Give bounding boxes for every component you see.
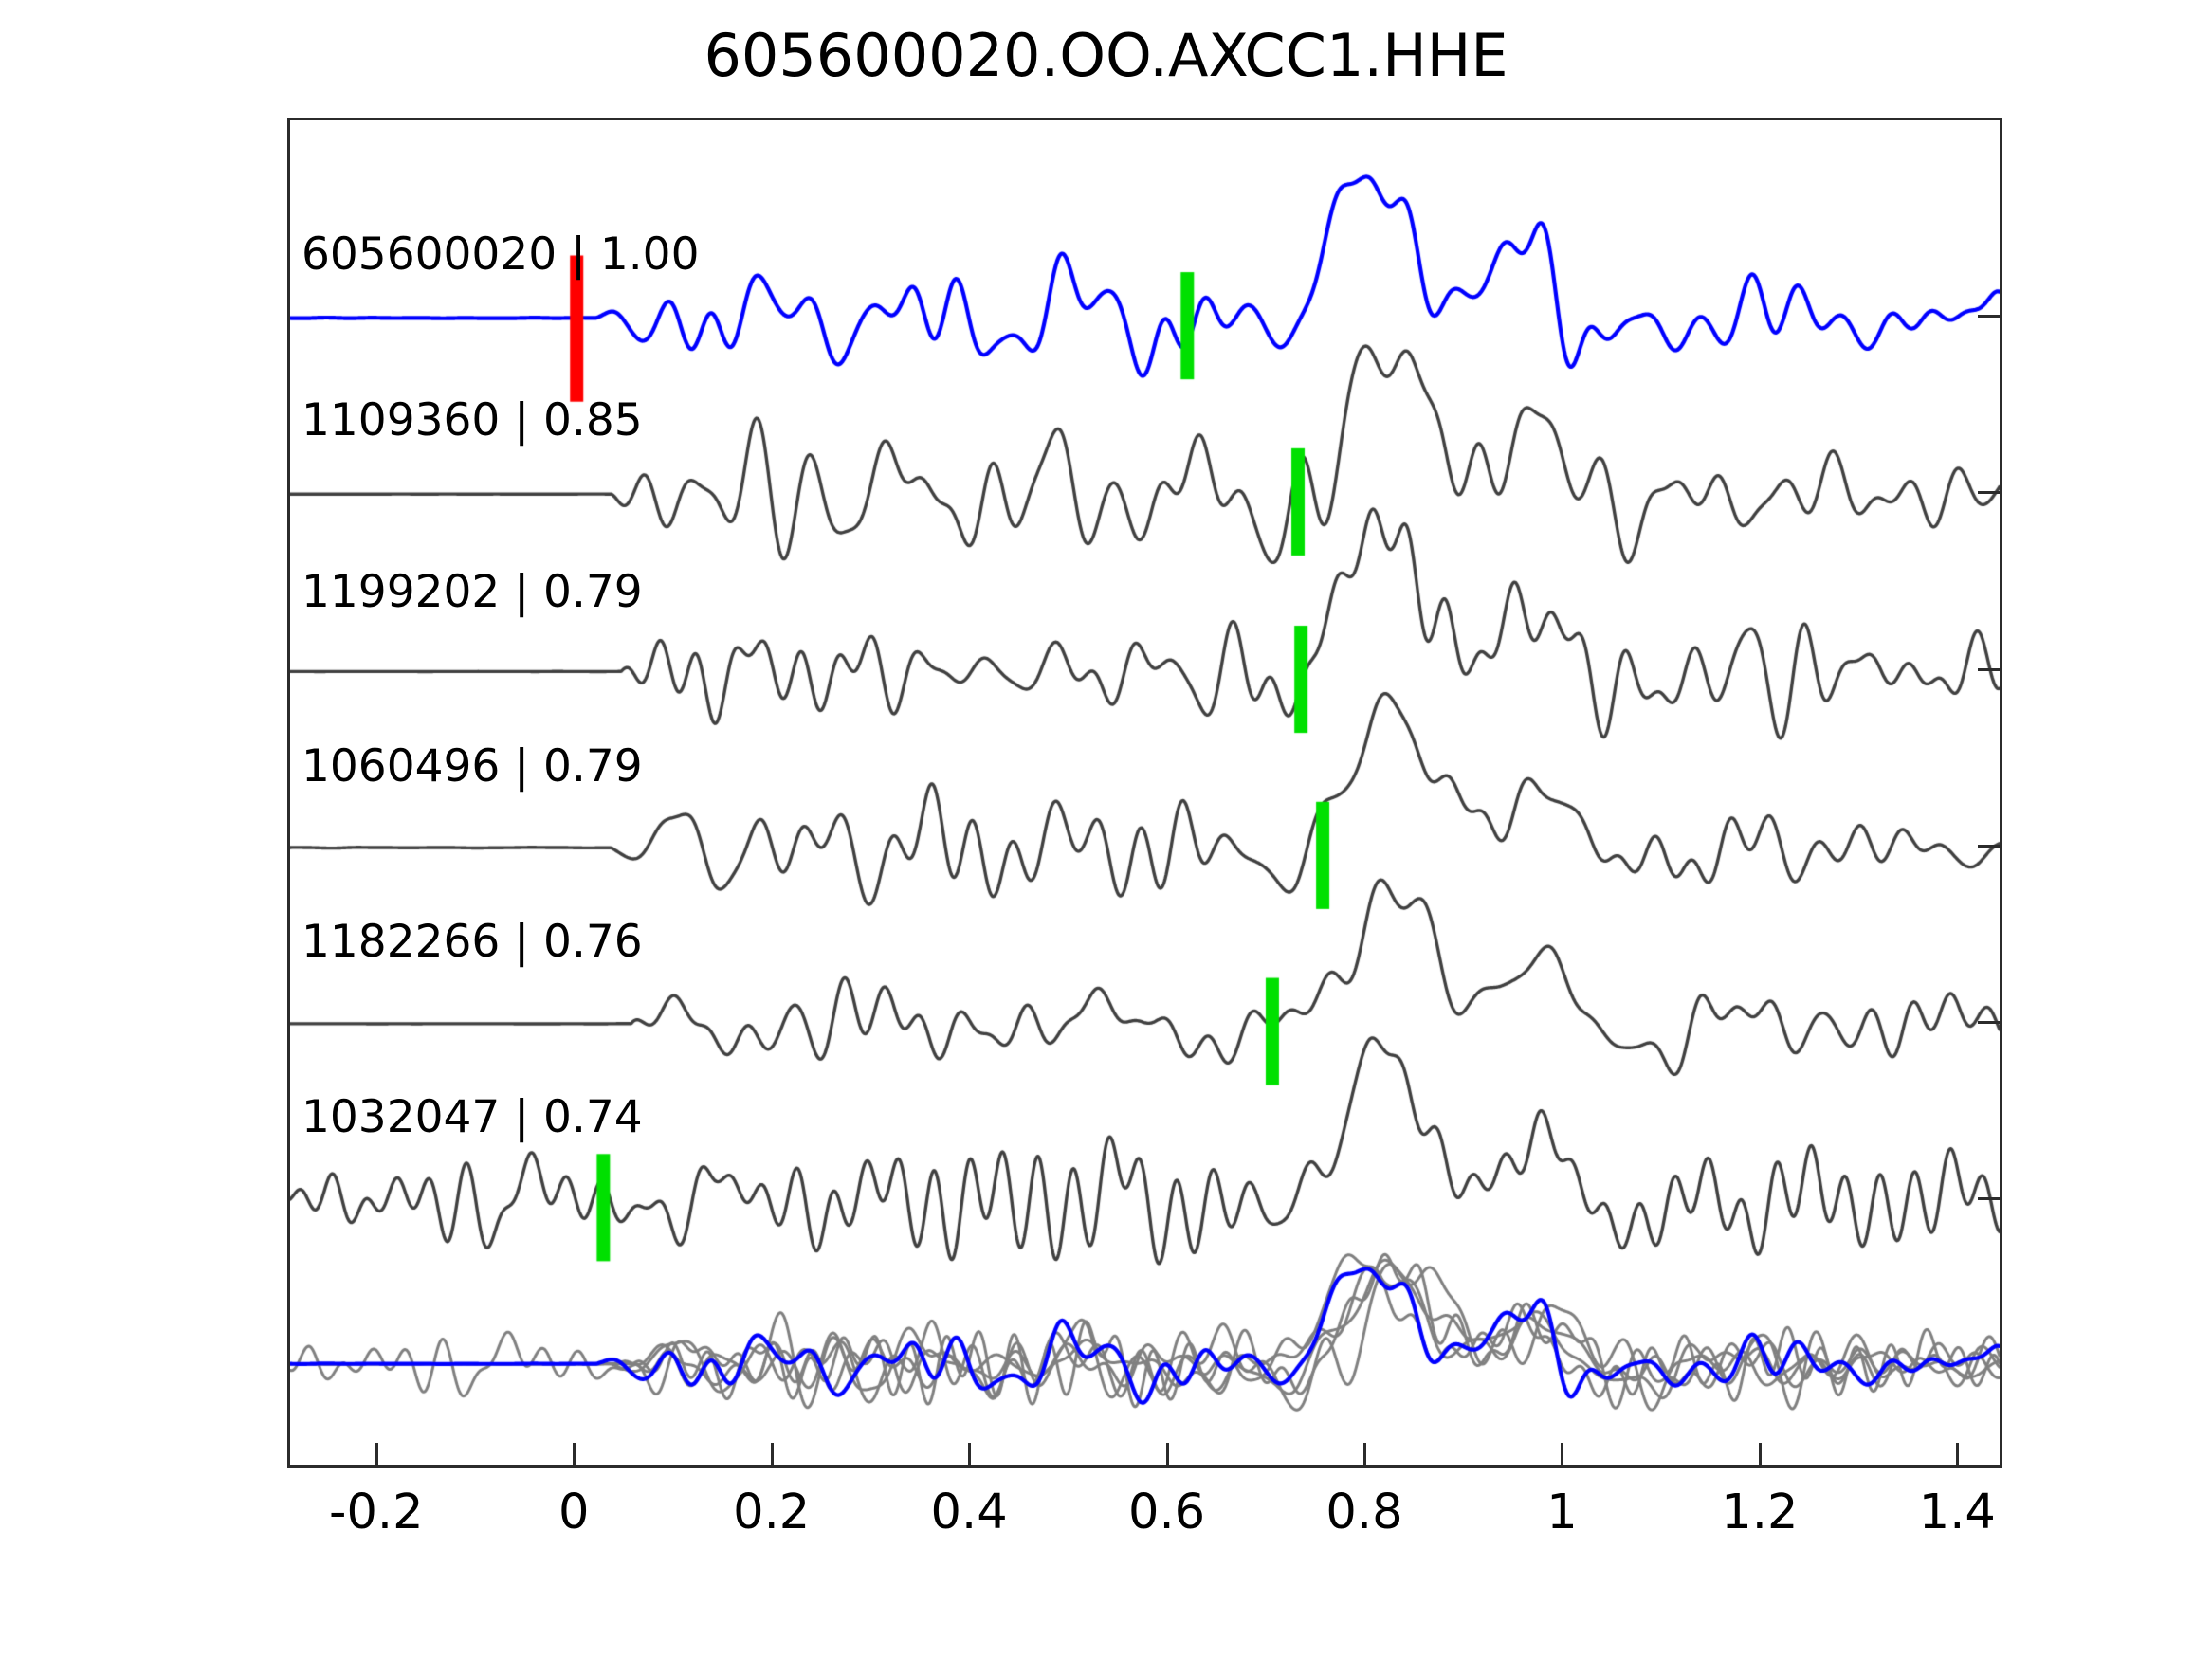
x-tick-mark-5 [1363, 1443, 1366, 1468]
x-tick-label-8: 1.4 [1919, 1488, 1996, 1537]
x-tick-label-2: 0.2 [733, 1488, 810, 1537]
plot-area [287, 118, 2002, 1468]
waveform-canvas [290, 120, 2000, 1465]
x-tick-label-0: -0.2 [329, 1488, 424, 1537]
x-tick-label-5: 0.8 [1325, 1488, 1402, 1537]
x-tick-label-4: 0.6 [1128, 1488, 1205, 1537]
trace-label-5: 1032047 | 0.74 [302, 1095, 643, 1139]
x-tick-mark-4 [1166, 1443, 1169, 1468]
x-tick-mark-8 [1956, 1443, 1959, 1468]
y-tick-stub-2 [1978, 668, 2002, 671]
x-tick-label-3: 0.4 [931, 1488, 1008, 1537]
page-title: 605600020.OO.AXCC1.HHE [0, 21, 2212, 90]
trace-label-0: 605600020 | 1.00 [302, 232, 700, 277]
x-tick-mark-2 [771, 1443, 774, 1468]
x-tick-mark-3 [968, 1443, 971, 1468]
trace-label-1: 1109360 | 0.85 [302, 398, 643, 443]
y-tick-stub-3 [1978, 845, 2002, 848]
x-tick-mark-1 [573, 1443, 576, 1468]
x-tick-label-7: 1.2 [1721, 1488, 1798, 1537]
trace-label-3: 1060496 | 0.79 [302, 744, 643, 789]
x-tick-mark-0 [375, 1443, 378, 1468]
x-tick-label-6: 1 [1546, 1488, 1577, 1537]
y-tick-stub-0 [1978, 315, 2002, 318]
x-tick-label-1: 0 [558, 1488, 589, 1537]
x-tick-mark-7 [1759, 1443, 1762, 1468]
trace-label-2: 1199202 | 0.79 [302, 570, 643, 614]
y-tick-stub-5 [1978, 1197, 2002, 1200]
y-tick-stub-1 [1978, 491, 2002, 494]
x-tick-mark-6 [1561, 1443, 1563, 1468]
y-tick-stub-4 [1978, 1021, 2002, 1024]
seismogram-figure: 605600020.OO.AXCC1.HHE 605600020 | 1.001… [0, 0, 2212, 1659]
trace-label-4: 1182266 | 0.76 [302, 920, 643, 964]
